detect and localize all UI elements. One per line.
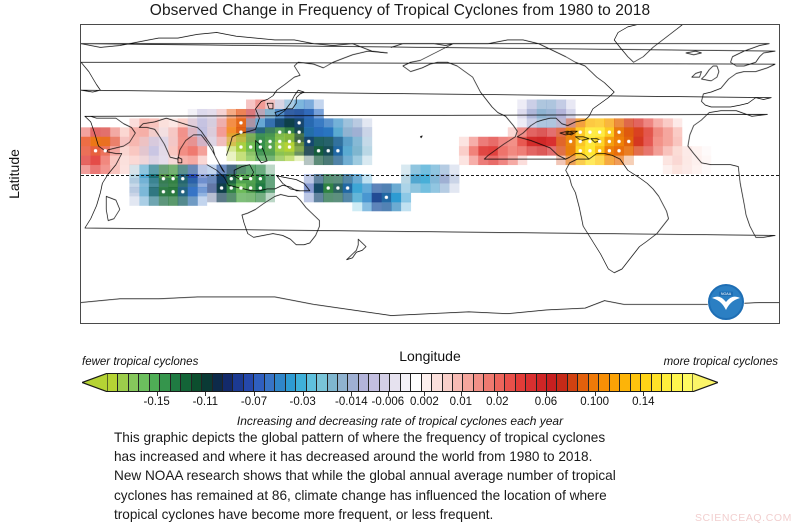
- y-tick-minor: [80, 213, 81, 214]
- colorbar-tick-label: 0.01: [450, 396, 472, 408]
- colorbar-tick-label: -0.014: [335, 396, 368, 408]
- colorbar-segment: [652, 374, 662, 391]
- colorbar-segment: [254, 374, 264, 391]
- y-tick: [80, 175, 81, 176]
- colorbar-segment: [129, 374, 139, 391]
- colorbar-right-label: more tropical cyclones: [664, 356, 778, 368]
- colorbar-tick-label: -0.006: [372, 396, 405, 408]
- colorbar-caption: Increasing and decreasing rate of tropic…: [0, 414, 800, 428]
- caption-line: tropical cyclones have become more frequ…: [114, 505, 734, 524]
- x-tick-minor: [606, 323, 607, 324]
- colorbar-segment: [432, 374, 442, 391]
- y-tick-minor: [80, 138, 81, 139]
- x-tick-minor: [373, 323, 374, 324]
- colorbar-right-arrow: [692, 373, 718, 392]
- watermark: SCIENCEAQ.COM: [695, 512, 792, 524]
- colorbar-segment: [118, 374, 128, 391]
- colorbar-segment: [139, 374, 149, 391]
- caption-line: cyclones has remained at 86, climate cha…: [114, 486, 734, 505]
- caption-line: has increased and where it has decreased…: [114, 447, 734, 466]
- colorbar-segment: [599, 374, 609, 391]
- colorbar-tick-labels: -0.15-0.11-0.07-0.03-0.014-0.0060.0020.0…: [108, 396, 692, 412]
- colorbar-segment: [526, 374, 536, 391]
- x-tick: [431, 323, 432, 324]
- colorbar-segment: [672, 374, 682, 391]
- colorbar-segment: [568, 374, 578, 391]
- colorbar-segment: [537, 374, 547, 391]
- y-tick: [80, 100, 81, 101]
- colorbar-segment: [233, 374, 243, 391]
- y-axis-title: Latitude: [6, 149, 22, 199]
- figure-caption: This graphic depicts the global pattern …: [114, 428, 734, 524]
- x-tick: [81, 323, 82, 324]
- colorbar-left-arrow: [82, 373, 108, 392]
- colorbar-tick-label: 0.14: [632, 396, 654, 408]
- colorbar-segment: [181, 374, 191, 391]
- colorbar-segment: [443, 374, 453, 391]
- x-tick: [314, 323, 315, 324]
- colorbar-segment: [213, 374, 223, 391]
- page-title: Observed Change in Frequency of Tropical…: [0, 2, 800, 20]
- y-tick: [80, 25, 81, 26]
- map-plot-area[interactable]: 80oN40oN0o40oS30oE90oE150oE150oW90oW30oW: [80, 24, 780, 324]
- colorbar-tick-label: 0.100: [580, 396, 609, 408]
- caption-line: This graphic depicts the global pattern …: [114, 428, 734, 447]
- colorbar-segment: [275, 374, 285, 391]
- colorbar-segment: [265, 374, 275, 391]
- colorbar-segment: [631, 374, 641, 391]
- colorbar-segment: [662, 374, 672, 391]
- colorbar-segment: [359, 374, 369, 391]
- colorbar-segment: [620, 374, 630, 391]
- equator-dashed-line: [81, 175, 779, 176]
- colorbar-segment: [328, 374, 338, 391]
- colorbar-tick-label: 0.002: [410, 396, 439, 408]
- caption-line: New NOAA research shows that while the g…: [114, 466, 734, 485]
- colorbar-segment: [557, 374, 567, 391]
- colorbar-segment: [317, 374, 327, 391]
- colorbar-segment: [286, 374, 296, 391]
- colorbar-segment: [578, 374, 588, 391]
- colorbar-left-label: fewer tropical cyclones: [82, 356, 198, 368]
- colorbar-tick-label: -0.11: [193, 396, 218, 408]
- significance-stipple-layer: [81, 25, 779, 323]
- y-tick: [80, 250, 81, 251]
- x-tick-minor: [723, 323, 724, 324]
- colorbar-segment: [516, 374, 526, 391]
- colorbar-segment: [484, 374, 494, 391]
- x-tick-minor: [256, 323, 257, 324]
- colorbar-segment: [495, 374, 505, 391]
- colorbar-tick-label: -0.15: [144, 396, 170, 408]
- figure-root: Observed Change in Frequency of Tropical…: [0, 0, 800, 530]
- colorbar-tick-label: 0.02: [486, 396, 508, 408]
- colorbar-segment: [380, 374, 390, 391]
- colorbar-segments[interactable]: [108, 373, 692, 392]
- y-tick-minor: [80, 63, 81, 64]
- svg-text:NOAA: NOAA: [721, 292, 732, 296]
- colorbar-segment: [223, 374, 233, 391]
- colorbar-tick-label: 0.06: [535, 396, 557, 408]
- colorbar-segment: [296, 374, 306, 391]
- colorbar-segment: [108, 374, 118, 391]
- colorbar-segment: [453, 374, 463, 391]
- colorbar-tick-label: -0.07: [241, 396, 267, 408]
- colorbar-segment: [369, 374, 379, 391]
- colorbar-segment: [589, 374, 599, 391]
- x-tick: [198, 323, 199, 324]
- colorbar-segment: [192, 374, 202, 391]
- colorbar-segment: [307, 374, 317, 391]
- colorbar-segment: [474, 374, 484, 391]
- colorbar-segment: [463, 374, 473, 391]
- colorbar-segment: [390, 374, 400, 391]
- x-tick-minor: [489, 323, 490, 324]
- colorbar-segment: [338, 374, 348, 391]
- noaa-logo: NOAA: [706, 282, 746, 322]
- colorbar-segment: [171, 374, 181, 391]
- colorbar-segment: [547, 374, 557, 391]
- colorbar-segment: [422, 374, 432, 391]
- colorbar-tick-label: -0.03: [290, 396, 316, 408]
- x-tick: [548, 323, 549, 324]
- colorbar-segment: [641, 374, 651, 391]
- x-tick: [664, 323, 665, 324]
- colorbar-segment: [244, 374, 254, 391]
- colorbar-segment: [610, 374, 620, 391]
- x-tick-minor: [139, 323, 140, 324]
- colorbar-segment: [683, 374, 692, 391]
- colorbar: fewer tropical cyclones more tropical cy…: [0, 356, 800, 426]
- y-tick-minor: [80, 288, 81, 289]
- colorbar-segment: [348, 374, 358, 391]
- colorbar-segment: [505, 374, 515, 391]
- colorbar-segment: [411, 374, 421, 391]
- colorbar-segment: [401, 374, 411, 391]
- colorbar-segment: [150, 374, 160, 391]
- colorbar-segment: [160, 374, 170, 391]
- colorbar-segment: [202, 374, 212, 391]
